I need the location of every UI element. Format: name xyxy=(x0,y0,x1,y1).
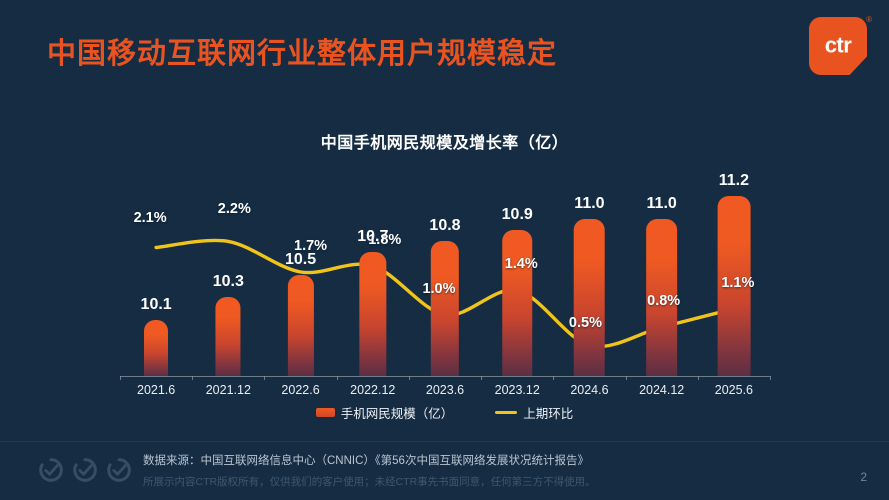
registered-trademark-icon: ® xyxy=(866,15,872,24)
footer-divider xyxy=(0,441,889,442)
x-axis-label: 2023.6 xyxy=(426,383,464,397)
chart-bar-slot: 11.0 xyxy=(553,168,625,376)
x-axis-label: 2021.12 xyxy=(206,383,251,397)
growth-rate-label: 2.2% xyxy=(218,201,251,217)
legend-item-line: 上期环比 xyxy=(495,403,573,422)
disclaimer-note: 所展示内容CTR版权所有，仅供我们的客户使用；未经CTR事先书面同意，任何第三方… xyxy=(143,474,596,489)
x-axis-line xyxy=(120,376,770,377)
chart-bar[interactable] xyxy=(144,320,168,376)
chart-bar[interactable] xyxy=(287,275,313,376)
x-axis-tick xyxy=(553,376,554,380)
page-number: 2 xyxy=(860,470,867,484)
chart-bar-slot: 10.8 xyxy=(409,168,481,376)
x-axis-tick xyxy=(192,376,193,380)
bar-value-label: 10.9 xyxy=(502,206,533,224)
x-axis-tick xyxy=(337,376,338,380)
chart-legend: 手机网民规模（亿） 上期环比 xyxy=(0,403,889,422)
x-axis-label: 2024.12 xyxy=(639,383,684,397)
growth-rate-label: 1.1% xyxy=(721,275,754,291)
legend-item-bar: 手机网民规模（亿） xyxy=(316,403,454,422)
chart-plot-area: 10.110.310.510.710.810.911.011.011.22.1%… xyxy=(120,168,770,376)
x-axis-tick xyxy=(770,376,771,380)
page-title: 中国移动互联网行业整体用户规模稳定 xyxy=(47,30,557,72)
legend-swatch-bar-icon xyxy=(316,408,335,417)
growth-rate-label: 1.7% xyxy=(294,238,327,254)
x-axis-label: 2022.12 xyxy=(350,383,395,397)
x-axis-label: 2025.6 xyxy=(715,383,753,397)
x-axis-label: 2024.6 xyxy=(570,383,608,397)
growth-rate-label: 1.4% xyxy=(505,256,538,272)
chart-bar[interactable] xyxy=(574,219,605,376)
chart-bar-slot: 11.0 xyxy=(626,168,698,376)
legend-label-bar: 手机网民规模（亿） xyxy=(341,403,454,422)
x-axis-tick xyxy=(481,376,482,380)
check-gauge-icon xyxy=(104,455,134,485)
watermark-group xyxy=(36,455,134,485)
x-axis-label: 2023.12 xyxy=(495,383,540,397)
chart-bar[interactable] xyxy=(359,252,386,376)
slide-root: 中国移动互联网行业整体用户规模稳定 ctr ® 中国手机网民规模及增长率（亿） … xyxy=(0,0,889,500)
chart-bar[interactable] xyxy=(431,241,459,376)
legend-swatch-line-icon xyxy=(495,411,517,414)
bar-value-label: 10.1 xyxy=(141,296,172,314)
x-axis-label: 2021.6 xyxy=(137,383,175,397)
x-axis-tick xyxy=(120,376,121,380)
chart-bar-slot: 10.1 xyxy=(120,168,192,376)
x-axis-tick xyxy=(409,376,410,380)
legend-label-line: 上期环比 xyxy=(523,403,573,422)
chart-bar-slot: 10.5 xyxy=(264,168,336,376)
source-note: 数据来源：中国互联网络信息中心（CNNIC）《第56次中国互联网络发展状况统计报… xyxy=(143,452,589,468)
chart-bar-slot: 11.2 xyxy=(698,168,770,376)
bar-value-label: 11.0 xyxy=(574,195,604,213)
logo-wordmark: ctr xyxy=(809,32,867,58)
chart-title: 中国手机网民规模及增长率（亿） xyxy=(0,129,889,153)
growth-rate-label: 1.0% xyxy=(422,281,455,297)
x-axis-tick xyxy=(626,376,627,380)
check-gauge-icon xyxy=(36,455,66,485)
check-gauge-icon xyxy=(70,455,100,485)
bar-value-label: 10.8 xyxy=(429,217,460,235)
x-axis-label: 2022.6 xyxy=(281,383,319,397)
chart-bar[interactable] xyxy=(502,230,532,376)
bar-value-label: 11.2 xyxy=(719,172,749,190)
chart-bar-slot: 10.3 xyxy=(192,168,264,376)
chart-bar-slot: 10.7 xyxy=(337,168,409,376)
growth-rate-label: 0.5% xyxy=(569,315,602,331)
x-axis-tick xyxy=(264,376,265,380)
growth-rate-label: 1.8% xyxy=(368,232,401,248)
x-axis-tick xyxy=(698,376,699,380)
growth-rate-label: 0.8% xyxy=(647,293,680,309)
bar-value-label: 11.0 xyxy=(647,195,677,213)
chart-bar[interactable] xyxy=(216,297,241,376)
ctr-logo: ctr ® xyxy=(809,17,867,75)
bar-value-label: 10.3 xyxy=(213,273,244,291)
growth-rate-label: 2.1% xyxy=(134,210,167,226)
